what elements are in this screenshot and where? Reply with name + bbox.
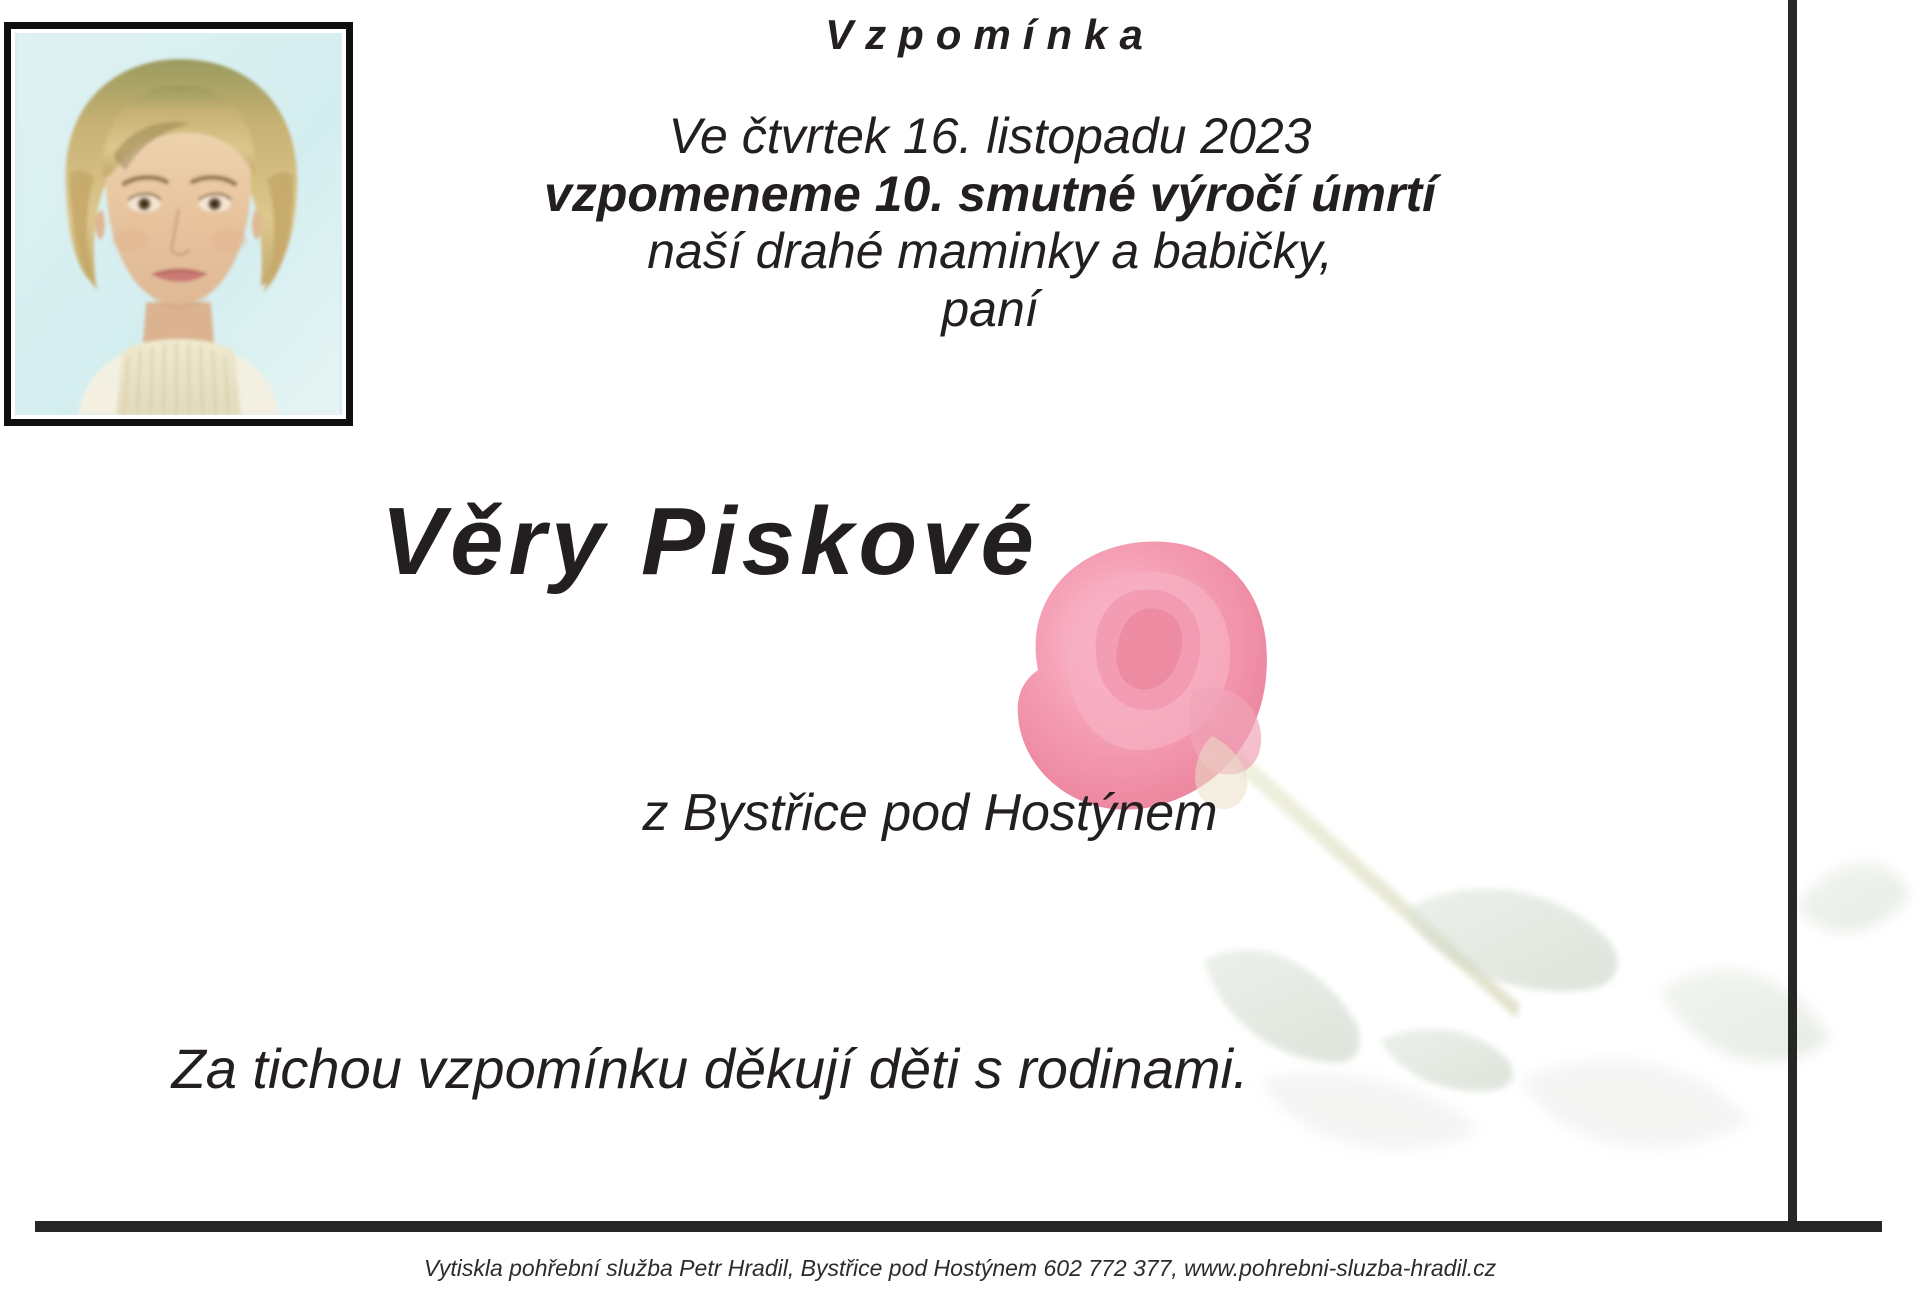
printer-credit-footer: Vytiskla pohřební služba Petr Hradil, By… xyxy=(0,1255,1920,1282)
intro-paragraph: Ve čtvrtek 16. listopadu 2023 vzpomeneme… xyxy=(360,56,1620,338)
deceased-origin: z Bystřice pod Hostýnem xyxy=(300,785,1560,842)
rose-decoration xyxy=(960,520,1920,1220)
thanks-message: Za tichou vzpomínku děkují děti s rodina… xyxy=(0,1038,1420,1100)
horizontal-rule xyxy=(35,1221,1882,1232)
intro-line-4: paní xyxy=(360,281,1620,339)
intro-line-2: vzpomeneme 10. smutné výročí úmrtí xyxy=(360,166,1620,224)
intro-line-1: Ve čtvrtek 16. listopadu 2023 xyxy=(360,108,1620,166)
deceased-name: Věry Piskové xyxy=(0,492,1420,593)
notice-text-column: Vzpomínka Ve čtvrtek 16. listopadu 2023 … xyxy=(360,0,1620,338)
memorial-notice-card: Vzpomínka Ve čtvrtek 16. listopadu 2023 … xyxy=(0,0,1920,1298)
photo-matte xyxy=(11,29,346,419)
portrait-photo-frame xyxy=(4,22,353,426)
rose-stem-icon xyxy=(1196,720,1520,1018)
vertical-rule xyxy=(1788,0,1797,1224)
intro-line-3: naší drahé maminky a babičky, xyxy=(360,223,1620,281)
rose-leaf-far-icon xyxy=(1660,862,1910,1061)
portrait-photo xyxy=(15,33,342,415)
page-title: Vzpomínka xyxy=(360,0,1620,56)
